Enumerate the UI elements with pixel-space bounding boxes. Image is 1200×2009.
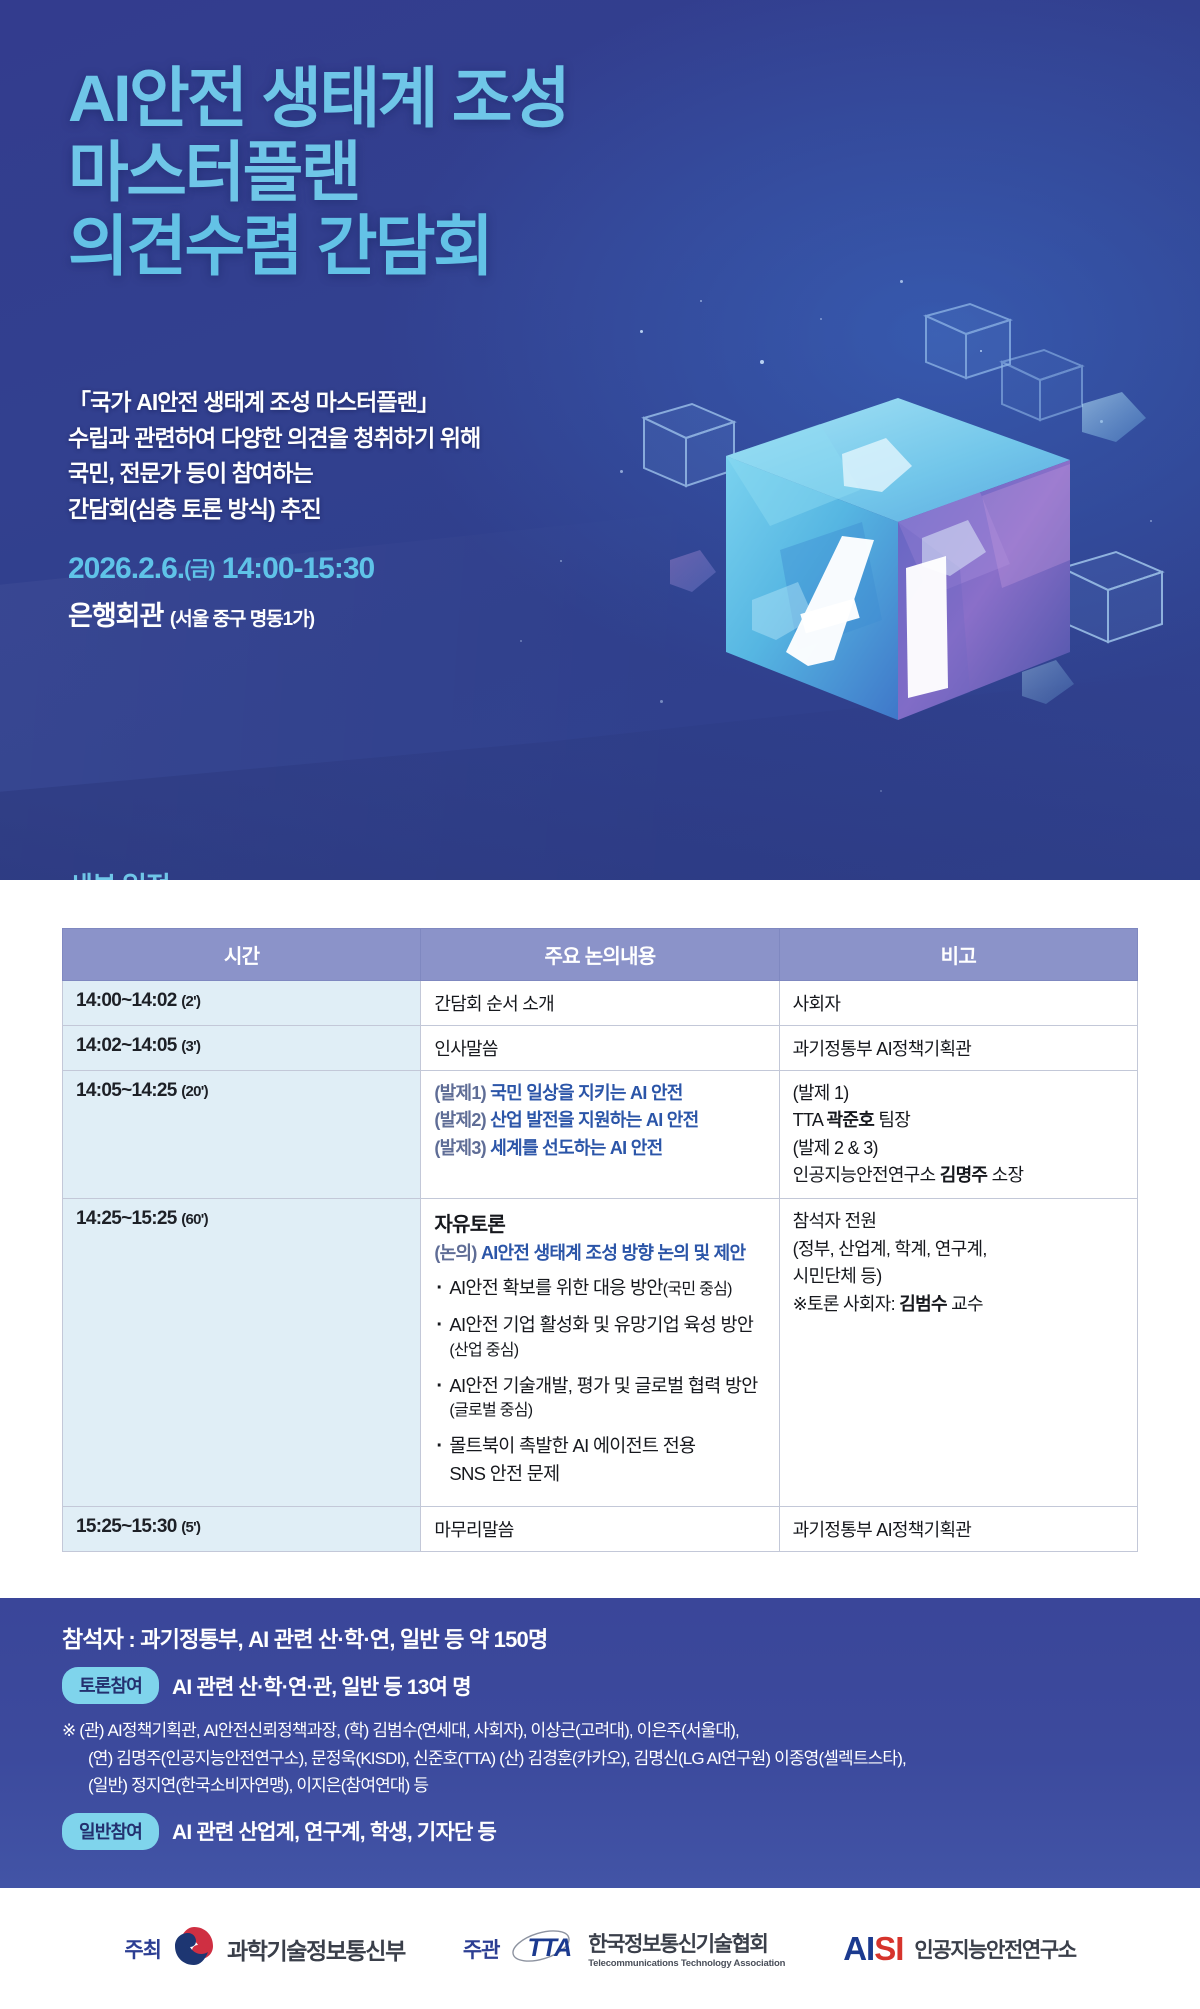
aisi-mark-part2: SI: [874, 1930, 903, 1967]
bullet-sub: (산업 중심): [449, 1339, 765, 1363]
topic-item: (발제1) 국민 일상을 지키는 AI 안전: [434, 1080, 765, 1107]
lead-line-2: 수립과 관련하여 다양한 의견을 청취하기 위해: [68, 421, 480, 457]
cell-content: (발제1) 국민 일상을 지키는 AI 안전 (발제2) 산업 발전을 지원하는…: [421, 1071, 779, 1199]
venue-name: 은행회관: [68, 601, 163, 631]
event-dayofweek: (금): [184, 558, 214, 581]
roster-line: (일반) 정지연(한국소비자연맹), 이지은(참여연대) 등: [62, 1772, 1140, 1800]
topic-label: (발제1): [434, 1083, 486, 1103]
discussion-bullet-list: AI안전 확보를 위한 대응 방안(국민 중심) AI안전 기업 활성화 및 유…: [434, 1274, 765, 1488]
note-line: (발제 1): [793, 1080, 1124, 1107]
organizer-logo-group: 주관 TTA 한국정보통신기술협회 Telecommunications Tec…: [463, 1927, 785, 1970]
attendees-text: : 과기정통부, AI 관련 산·학·연, 일반 등 약 150명: [123, 1627, 547, 1652]
event-time: 14:00-15:30: [222, 552, 374, 585]
event-venue: 은행회관 (서울 중구 명동1가): [68, 594, 314, 633]
cell-note: (발제 1) TTA 곽준호 팀장 (발제 2 & 3) 인공지능안전연구소 김…: [779, 1071, 1137, 1199]
bullet-main: AI안전 기술개발, 평가 및 글로벌 협력 방안: [449, 1375, 757, 1396]
cell-note: 과기정통부 AI정책기획관: [779, 1506, 1137, 1551]
topic-title: 국민 일상을 지키는 AI 안전: [490, 1083, 682, 1103]
list-item: AI안전 기술개발, 평가 및 글로벌 협력 방안(글로벌 중심): [434, 1372, 765, 1424]
aisi-wordmark: AISI: [843, 1930, 903, 1968]
topic-label: (발제2): [434, 1110, 486, 1130]
table-row: 14:02~14:05 (3') 인사말씀 과기정통부 AI정책기획관: [63, 1026, 1138, 1071]
presenter-name: 곽준호: [827, 1110, 875, 1130]
list-item: 몰트북이 촉발한 AI 에이전트 전용SNS 안전 문제: [434, 1432, 765, 1488]
organizer-name: 한국정보통신기술협회: [588, 1933, 767, 1956]
cell-note: 참석자 전원 (정부, 산업계, 학계, 연구계, 시민단체 등) ※토론 사회…: [779, 1199, 1137, 1506]
roster-list: ※ (관) AI정책기획관, AI안전신뢰정책과장, (학) 김범수(연세대, …: [62, 1717, 1140, 1800]
note-pre: ※토론 사회자:: [793, 1294, 900, 1314]
bullet-main: AI안전 기업 활성화 및 유망기업 육성 방안: [449, 1314, 753, 1335]
table-header-row: 시간 주요 논의내용 비고: [63, 929, 1138, 981]
note-post: 팀장: [874, 1110, 910, 1130]
note-line: (발제 2 & 3): [793, 1135, 1124, 1162]
row-time: 14:02~14:05: [76, 1035, 177, 1056]
debate-text: AI 관련 산·학·연·관, 일반 등 13여 명: [172, 1671, 471, 1701]
column-header-content: 주요 논의내용: [421, 929, 779, 981]
row-duration: (20'): [181, 1083, 208, 1100]
bullet-main: AI안전 확보를 위한 대응 방안: [449, 1277, 662, 1298]
general-participation-row: 일반참여 AI 관련 산업계, 연구계, 학생, 기자단 등: [62, 1813, 1140, 1850]
event-datetime: 2026.2.6.(금) 14:00-15:30: [68, 552, 374, 586]
bullet-tail: (국민 중심): [663, 1281, 732, 1298]
roster-line: ※ (관) AI정책기획관, AI안전신뢰정책과장, (학) 김범수(연세대, …: [62, 1717, 1140, 1745]
note-line: TTA 곽준호 팀장: [793, 1107, 1124, 1134]
row-duration: (2'): [181, 993, 200, 1010]
cell-time: 14:00~14:02 (2'): [63, 981, 421, 1026]
cell-note: 과기정통부 AI정책기획관: [779, 1026, 1137, 1071]
lead-line-3: 국민, 전문가 등이 참여하는: [68, 456, 480, 492]
table-row: 14:25~15:25 (60') 자유토론 (논의) AI안전 생태계 조성 …: [63, 1199, 1138, 1506]
note-line: ※토론 사회자: 김범수 교수: [793, 1291, 1124, 1318]
discussion-heading: 자유토론: [434, 1208, 765, 1237]
tta-wordmark: TTA: [527, 1934, 571, 1963]
note-post: 소장: [987, 1165, 1023, 1185]
row-time: 14:05~14:25: [76, 1080, 177, 1101]
cell-time: 14:02~14:05 (3'): [63, 1026, 421, 1071]
schedule-section-title: 세부 일정: [68, 865, 170, 880]
host-logo-group: 주최 과학기술정보통신부: [124, 1924, 404, 1973]
note-line: 인공지능안전연구소 김명주 소장: [793, 1162, 1124, 1189]
attendees-line: 참석자 : 과기정통부, AI 관련 산·학·연, 일반 등 약 150명: [62, 1620, 1140, 1654]
presenter-name: 김명주: [940, 1165, 988, 1185]
note-line: (정부, 산업계, 학계, 연구계,: [793, 1236, 1124, 1263]
moderator-note: ※ 전체 사회자: 김혜민 아나운서: [897, 876, 1140, 880]
general-chip: 일반참여: [62, 1813, 159, 1850]
venue-address: (서울 중구 명동1가): [170, 609, 314, 630]
debate-chip: 토론참여: [62, 1667, 159, 1704]
title-line-3: 의견수렴 간담회: [68, 210, 568, 284]
topic-label: (발제3): [434, 1138, 486, 1158]
cell-time: 14:05~14:25 (20'): [63, 1071, 421, 1199]
aisi-mark-part1: AI: [843, 1930, 874, 1967]
title-line-2: 마스터플랜: [68, 136, 568, 210]
schedule-table: 시간 주요 논의내용 비고 14:00~14:02 (2') 간담회 순서 소개…: [62, 928, 1138, 1552]
ai-cube-artwork: [630, 300, 1190, 760]
roster-line: (연) 김명주(인공지능안전연구소), 문정욱(KISDI), 신준호(TTA)…: [62, 1745, 1140, 1773]
note-post: 교수: [947, 1294, 983, 1314]
host-name: 과학기술정보통신부: [227, 1932, 405, 1966]
discussion-label: (논의): [434, 1243, 476, 1263]
list-item: AI안전 기업 활성화 및 유망기업 육성 방안(산업 중심): [434, 1311, 765, 1363]
bullet-main: 몰트북이 촉발한 AI 에이전트 전용: [449, 1435, 695, 1456]
organizer-name-en: Telecommunications Technology Associatio…: [588, 1958, 785, 1969]
sponsor-logo-bar: 주최 과학기술정보통신부 주관 TTA 한국정보통신기술협회 Telecommu…: [0, 1888, 1200, 2009]
attendees-label: 참석자: [62, 1626, 123, 1652]
list-item: AI안전 확보를 위한 대응 방안(국민 중심): [434, 1274, 765, 1302]
cell-note: 사회자: [779, 981, 1137, 1026]
row-time: 14:25~15:25: [76, 1208, 177, 1229]
lead-line-4: 간담회(심층 토론 방식) 추진: [68, 492, 480, 528]
column-header-time: 시간: [63, 929, 421, 981]
cell-content: 인사말씀: [421, 1026, 779, 1071]
row-duration: (60'): [181, 1211, 208, 1228]
table-head: 시간 주요 논의내용 비고: [63, 929, 1138, 981]
note-line: 시민단체 등): [793, 1263, 1124, 1290]
organizer-label: 주관: [463, 1934, 500, 1964]
cell-content: 간담회 순서 소개: [421, 981, 779, 1026]
debate-participation-row: 토론참여 AI 관련 산·학·연·관, 일반 등 13여 명: [62, 1667, 1140, 1704]
host-label: 주최: [124, 1934, 161, 1964]
organizer-name-block: 한국정보통신기술협회 Telecommunications Technology…: [588, 1928, 785, 1969]
cell-time: 14:25~15:25 (60'): [63, 1199, 421, 1506]
discussion-subject: (논의) AI안전 생태계 조성 방향 논의 및 제안: [434, 1240, 765, 1267]
topic-title: 산업 발전을 지원하는 AI 안전: [490, 1110, 698, 1130]
partner-logo-group: AISI 인공지능안전연구소: [843, 1930, 1075, 1968]
note-pre: TTA: [793, 1110, 827, 1130]
table-row: 15:25~15:30 (5') 마무리말씀 과기정통부 AI정책기획관: [63, 1506, 1138, 1551]
page-title: AI안전 생태계 조성 마스터플랜 의견수렴 간담회: [68, 62, 568, 284]
bullet-sub2: SNS 안전 문제: [449, 1460, 765, 1488]
note-line: 참석자 전원: [793, 1208, 1124, 1235]
table-body: 14:00~14:02 (2') 간담회 순서 소개 사회자 14:02~14:…: [63, 981, 1138, 1552]
table-row: 14:00~14:02 (2') 간담회 순서 소개 사회자: [63, 981, 1138, 1026]
topic-item: (발제3) 세계를 선도하는 AI 안전: [434, 1135, 765, 1162]
row-time: 15:25~15:30: [76, 1516, 177, 1537]
row-time: 14:00~14:02: [76, 990, 177, 1011]
discussion-moderator-name: 김범수: [899, 1294, 947, 1314]
schedule-table-wrapper: 시간 주요 논의내용 비고 14:00~14:02 (2') 간담회 순서 소개…: [62, 928, 1138, 1552]
cell-time: 15:25~15:30 (5'): [63, 1506, 421, 1551]
general-text: AI 관련 산업계, 연구계, 학생, 기자단 등: [172, 1816, 496, 1846]
cell-content: 자유토론 (논의) AI안전 생태계 조성 방향 논의 및 제안 AI안전 확보…: [421, 1199, 779, 1506]
lead-paragraph: 「국가 AI안전 생태계 조성 마스터플랜」 수립과 관련하여 다양한 의견을 …: [68, 385, 480, 528]
cell-content: 마무리말씀: [421, 1506, 779, 1551]
row-duration: (5'): [181, 1519, 200, 1536]
hero-banner: AI안전 생태계 조성 마스터플랜 의견수렴 간담회 「국가 AI안전 생태계 …: [0, 0, 1200, 880]
title-line-1: AI안전 생태계 조성: [68, 62, 568, 136]
event-date: 2026.2.6.: [68, 552, 184, 585]
topic-title: 세계를 선도하는 AI 안전: [490, 1138, 662, 1158]
column-header-note: 비고: [779, 929, 1137, 981]
participant-info-panel: 참석자 : 과기정통부, AI 관련 산·학·연, 일반 등 약 150명 토론…: [0, 1598, 1200, 1888]
discussion-title: AI안전 생태계 조성 방향 논의 및 제안: [481, 1243, 745, 1263]
topic-item: (발제2) 산업 발전을 지원하는 AI 안전: [434, 1107, 765, 1134]
lead-line-1: 「국가 AI안전 생태계 조성 마스터플랜」: [68, 385, 480, 421]
note-pre: 인공지능안전연구소: [793, 1165, 940, 1185]
bullet-sub: (글로벌 중심): [449, 1399, 765, 1423]
partner-name: 인공지능안전연구소: [914, 1934, 1075, 1964]
table-row: 14:05~14:25 (20') (발제1) 국민 일상을 지키는 AI 안전…: [63, 1071, 1138, 1199]
taegeuk-icon: [172, 1924, 216, 1973]
row-duration: (3'): [181, 1038, 200, 1055]
